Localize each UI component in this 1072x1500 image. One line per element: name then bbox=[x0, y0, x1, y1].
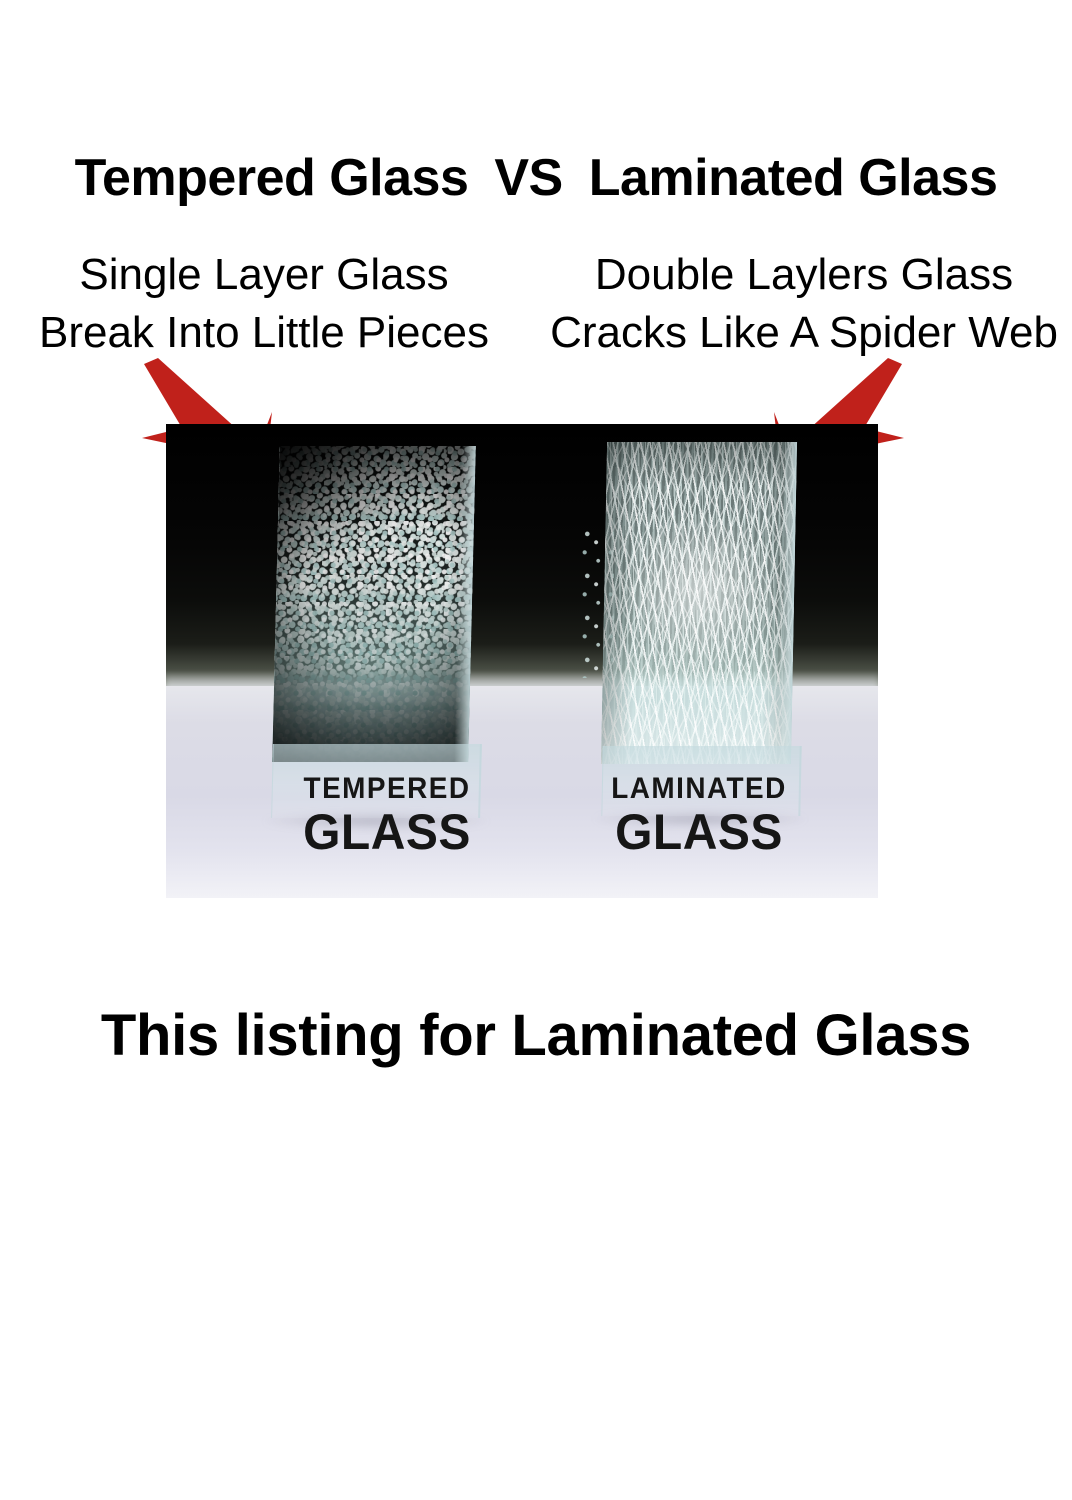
headline-separator: VS bbox=[494, 149, 562, 207]
laminated-shading bbox=[601, 442, 797, 764]
photo-label-laminated: LAMINATED GLASS bbox=[564, 774, 834, 857]
headline-right-term: Laminated Glass bbox=[589, 149, 998, 207]
tempered-shadow-mask bbox=[272, 446, 476, 762]
photo-label-tempered: TEMPERED GLASS bbox=[252, 774, 522, 857]
caption-tempered-line-1: Single Layer Glass bbox=[0, 246, 528, 304]
comparison-photo: TEMPERED GLASS LAMINATED GLASS bbox=[166, 424, 878, 898]
tempered-glass-slab bbox=[272, 446, 476, 762]
caption-laminated: Double Laylers Glass Cracks Like A Spide… bbox=[536, 246, 1072, 362]
headline-left-term: Tempered Glass bbox=[75, 149, 469, 207]
caption-laminated-line-2: Cracks Like A Spider Web bbox=[536, 304, 1072, 362]
photo-label-laminated-top: LAMINATED bbox=[573, 774, 824, 804]
caption-tempered: Single Layer Glass Break Into Little Pie… bbox=[0, 246, 528, 362]
caption-laminated-line-1: Double Laylers Glass bbox=[536, 246, 1072, 304]
footer-note: This listing for Laminated Glass bbox=[0, 1002, 1072, 1069]
photo-label-tempered-top: TEMPERED bbox=[261, 774, 512, 804]
page-title: Tempered GlassVSLaminated Glass bbox=[0, 150, 1072, 206]
photo-label-laminated-bottom: GLASS bbox=[569, 807, 828, 857]
laminated-glass-slab bbox=[601, 442, 797, 764]
caption-tempered-line-2: Break Into Little Pieces bbox=[0, 304, 528, 362]
caption-row: Single Layer Glass Break Into Little Pie… bbox=[0, 246, 1072, 370]
photo-label-tempered-bottom: GLASS bbox=[257, 807, 516, 857]
page-root: Tempered GlassVSLaminated Glass Single L… bbox=[0, 0, 1072, 1500]
